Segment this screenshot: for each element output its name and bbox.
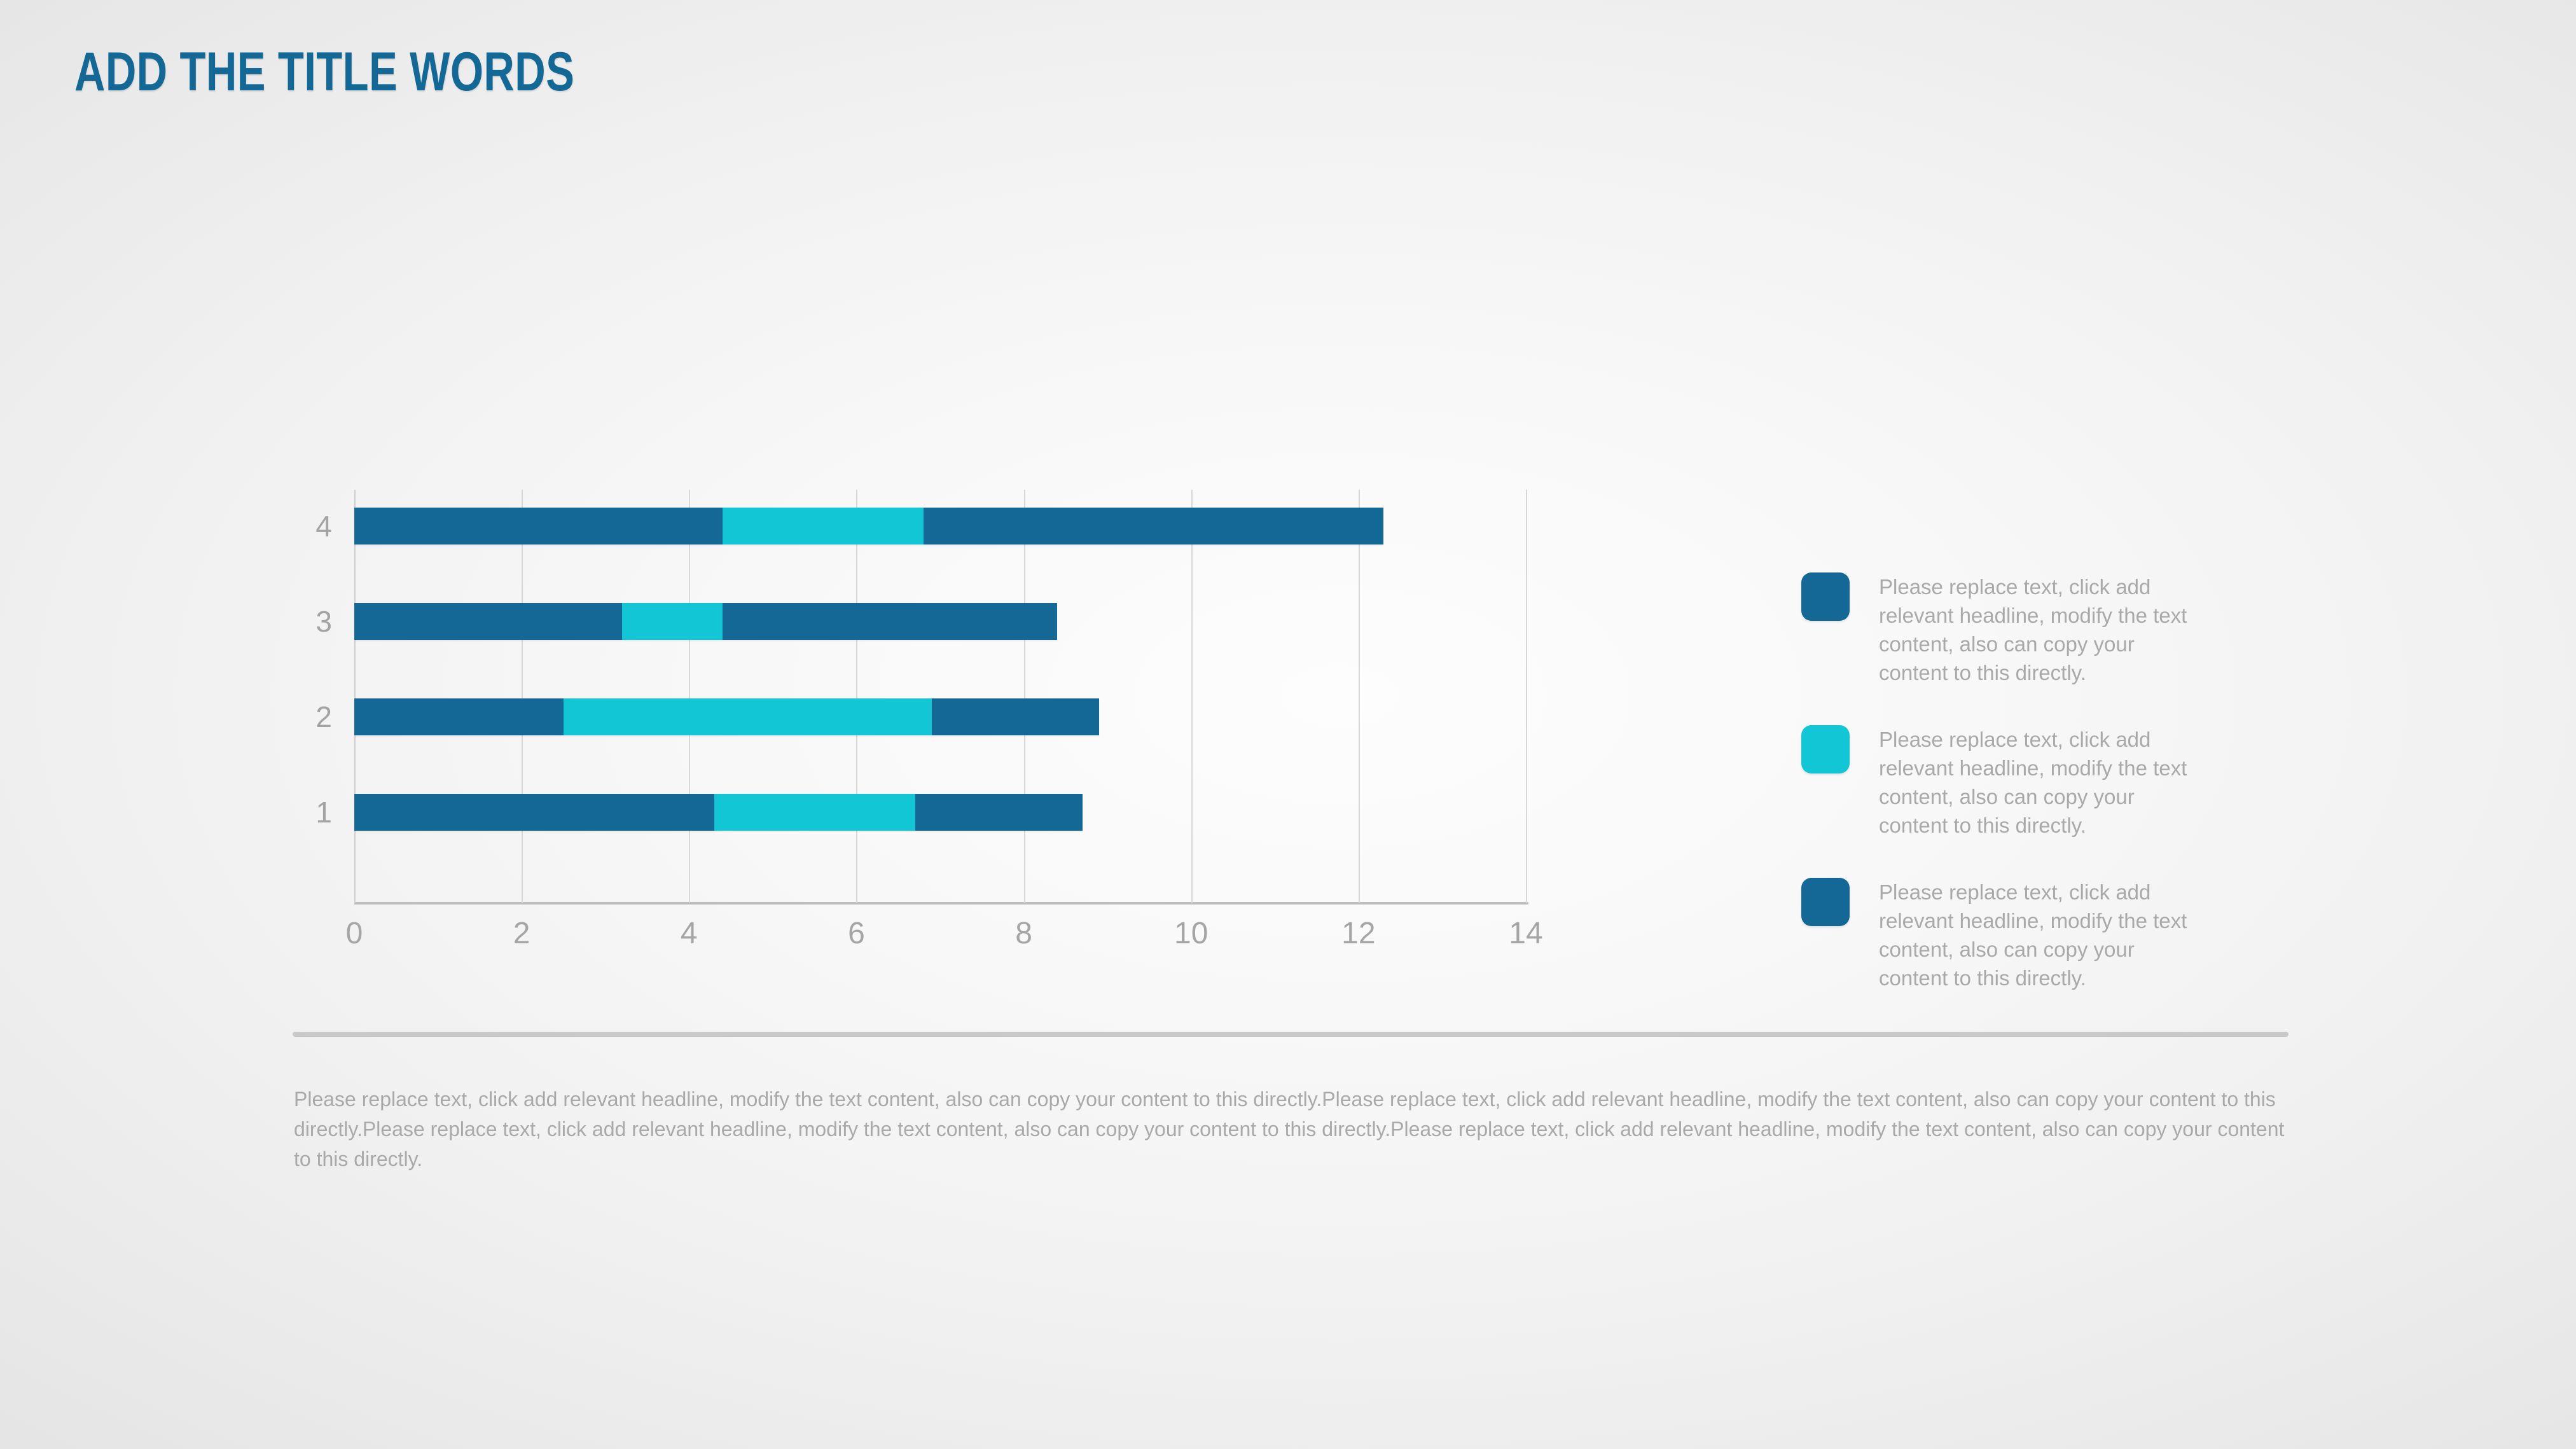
bar-segment[interactable] [714,794,915,831]
legend-item[interactable]: Please replace text, click add relevant … [1801,878,2208,992]
x-tick-6: 6 [848,916,865,951]
bar-segment[interactable] [354,794,714,831]
legend-item-label: Please replace text, click add relevant … [1879,725,2208,840]
legend-item-label: Please replace text, click add relevant … [1879,572,2208,687]
bar-segment[interactable] [924,508,1384,544]
x-tick-12: 12 [1341,916,1375,951]
bar-segment[interactable] [932,698,1099,735]
bar-segment[interactable] [622,603,723,640]
y-axis-label-1: 1 [275,794,332,831]
x-tick-14: 14 [1509,916,1542,951]
footer-paragraph: Please replace text, click add relevant … [294,1085,2291,1174]
legend-swatch-icon [1801,878,1850,926]
legend-item[interactable]: Please replace text, click add relevant … [1801,725,2208,840]
gridline-x-4 [689,490,690,903]
x-axis-baseline [354,902,1528,905]
legend-swatch-icon [1801,725,1850,773]
page-title: ADD THE TITLE WORDS [74,45,574,99]
x-tick-10: 10 [1174,916,1208,951]
x-axis-tick-labels: 02468101214 [354,916,1528,960]
chart-plot-area: 4321 [354,490,1526,903]
y-axis-label-4: 4 [275,508,332,544]
bar-row[interactable] [354,698,1099,735]
legend-item[interactable]: Please replace text, click add relevant … [1801,572,2208,687]
legend-item-label: Please replace text, click add relevant … [1879,878,2208,992]
bar-row[interactable] [354,603,1057,640]
gridline-x-12 [1359,490,1360,903]
bar-segment[interactable] [354,698,564,735]
bar-chart: 4321 02468101214 [280,483,1527,967]
bar-segment[interactable] [564,698,932,735]
gridline-x-8 [1024,490,1025,903]
bar-segment[interactable] [723,603,1057,640]
gridline-x-14 [1526,490,1527,903]
chart-legend: Please replace text, click add relevant … [1801,572,2208,1030]
x-tick-8: 8 [1015,916,1032,951]
gridline-x-2 [522,490,523,903]
gridline-x-0 [354,490,356,903]
y-axis-label-3: 3 [275,603,332,640]
x-tick-4: 4 [681,916,698,951]
bar-row[interactable] [354,508,1383,544]
bar-segment[interactable] [915,794,1083,831]
section-divider [293,1032,2289,1037]
bar-segment[interactable] [354,603,622,640]
gridline-x-10 [1191,490,1193,903]
x-tick-2: 2 [513,916,530,951]
gridline-x-6 [856,490,857,903]
bar-row[interactable] [354,794,1083,831]
x-tick-0: 0 [346,916,363,951]
y-axis-label-2: 2 [275,698,332,735]
bar-segment[interactable] [354,508,723,544]
legend-swatch-icon [1801,572,1850,621]
bar-segment[interactable] [723,508,924,544]
